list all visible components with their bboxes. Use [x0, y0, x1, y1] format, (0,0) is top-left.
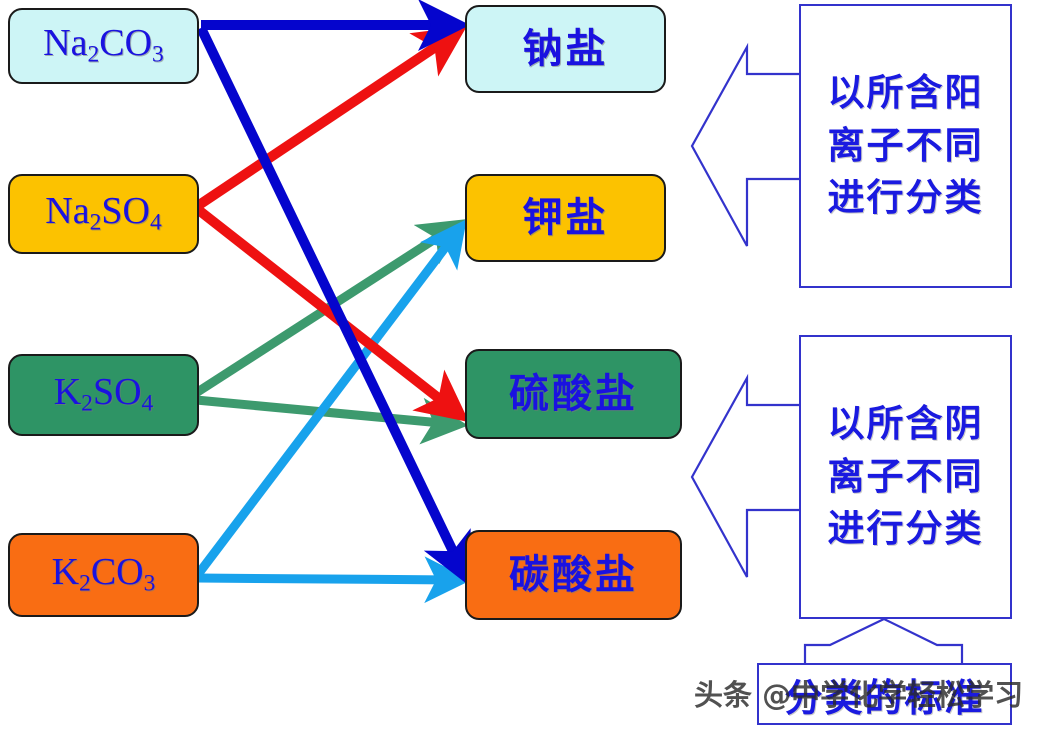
anion-callout-line-3: 进行分类	[828, 503, 984, 556]
cation-callout-line-2: 离子不同	[828, 120, 984, 173]
node-carbonate-salt[interactable]: 碳酸盐	[465, 530, 682, 620]
node-carbonate-salt-label: 碳酸盐	[509, 555, 638, 595]
node-na2so4-label: Na2SO4	[45, 192, 161, 235]
node-na2co3-label: Na2CO3	[43, 24, 164, 67]
cation-callout-arrow	[692, 47, 799, 246]
arrow-k2co3-to-potassium-salt	[196, 232, 457, 577]
node-sulfate-salt-label: 硫酸盐	[509, 374, 638, 414]
node-sodium-salt-label: 钠盐	[523, 29, 609, 69]
anion-callout-arrow	[692, 378, 799, 577]
anion-callout: 以所含阴 离子不同 进行分类	[799, 335, 1012, 619]
arrow-na2co3-to-carbonate-salt	[201, 28, 462, 570]
cation-callout-line-1: 以所含阳	[828, 67, 984, 120]
anion-callout-line-1: 以所含阴	[828, 398, 984, 451]
node-sodium-salt[interactable]: 钠盐	[465, 5, 666, 93]
anion-callout-line-2: 离子不同	[828, 451, 984, 504]
diagram-canvas: Na2CO3 Na2SO4 K2SO4 K2CO3 钠盐 钾盐 硫酸盐 碳酸盐 …	[0, 0, 1039, 729]
watermark-text: 头条 @中学化学轻松学习	[694, 672, 1023, 714]
arrow-na2so4-to-sulfate-salt	[196, 208, 455, 411]
node-na2co3[interactable]: Na2CO3	[8, 8, 199, 84]
node-sulfate-salt[interactable]: 硫酸盐	[465, 349, 682, 439]
node-potassium-salt[interactable]: 钾盐	[465, 174, 666, 262]
node-k2so4-label: K2SO4	[54, 373, 154, 416]
cation-callout: 以所含阳 离子不同 进行分类	[799, 4, 1012, 288]
arrow-na2so4-to-sodium-salt	[196, 36, 452, 207]
criteria-box-up-arrow	[805, 619, 962, 663]
arrow-k2so4-to-potassium-salt	[196, 228, 452, 393]
arrow-k2co3-to-carbonate-salt	[196, 578, 455, 580]
node-potassium-salt-label: 钾盐	[523, 198, 609, 238]
node-k2co3-label: K2CO3	[52, 553, 156, 596]
arrow-k2so4-to-sulfate-salt	[196, 400, 452, 424]
node-k2so4[interactable]: K2SO4	[8, 354, 199, 436]
node-k2co3[interactable]: K2CO3	[8, 533, 199, 617]
node-na2so4[interactable]: Na2SO4	[8, 174, 199, 254]
cation-callout-line-3: 进行分类	[828, 172, 984, 225]
